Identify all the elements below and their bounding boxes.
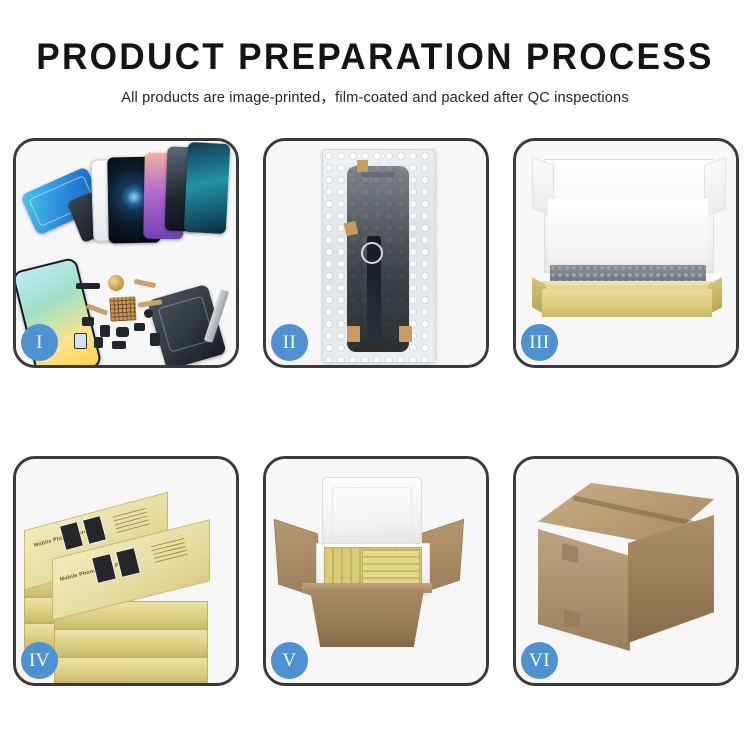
step-badge-4: IV xyxy=(21,642,58,679)
stacked-box xyxy=(54,629,208,657)
bubble-wrap-bag-icon xyxy=(322,149,436,363)
teal-gradient-phone-icon xyxy=(184,142,231,234)
cable-loop-icon xyxy=(361,242,383,264)
white-foam-fill-icon xyxy=(548,199,708,263)
carton-front-icon xyxy=(302,589,432,647)
inner-yellow-boxes-icon xyxy=(362,549,420,585)
step-badge-5: V xyxy=(271,642,308,679)
step-badge-2: II xyxy=(271,324,308,361)
component-part-icon xyxy=(82,317,94,326)
product-preparation-infographic: PRODUCT PREPARATION PROCESS All products… xyxy=(0,0,750,750)
component-part-icon xyxy=(150,333,160,346)
step-badge-6: VI xyxy=(521,642,558,679)
stacked-box xyxy=(54,657,208,683)
step-panel-3[interactable]: III xyxy=(513,138,739,368)
page-subtitle: All products are image-printed，film-coat… xyxy=(0,86,750,107)
component-part-icon xyxy=(116,327,129,337)
gold-coil-part-icon xyxy=(108,275,124,291)
header: PRODUCT PREPARATION PROCESS All products… xyxy=(0,38,750,107)
step-badge-1: I xyxy=(21,324,58,361)
flex-cable-icon xyxy=(134,279,157,288)
battery-part-icon xyxy=(74,333,87,349)
foam-box-lid-icon xyxy=(322,477,422,547)
step-panel-6[interactable]: VI xyxy=(513,456,739,686)
copper-mesh-part-icon xyxy=(109,296,136,321)
process-steps-grid: I II xyxy=(13,138,739,690)
step-panel-2[interactable]: II xyxy=(263,138,489,368)
component-part-icon xyxy=(94,337,103,348)
component-part-icon xyxy=(100,325,110,337)
yellow-box-front-icon xyxy=(542,289,712,317)
component-part-icon xyxy=(144,309,153,318)
step-badge-3: III xyxy=(521,324,558,361)
component-part-icon xyxy=(112,341,126,349)
step-panel-1[interactable]: I xyxy=(13,138,239,368)
step-panel-4[interactable]: Mobile Phone Spare Parts Mobile Phone Sp… xyxy=(13,456,239,686)
tape-piece-icon xyxy=(357,160,368,172)
component-part-icon xyxy=(76,283,100,289)
tape-piece-icon xyxy=(399,326,412,342)
carton-left-face-icon xyxy=(538,529,630,651)
tape-piece-icon xyxy=(347,326,360,342)
tape-piece-icon xyxy=(344,221,358,236)
step-panel-5[interactable]: V xyxy=(263,456,489,686)
page-title: PRODUCT PREPARATION PROCESS xyxy=(19,38,732,77)
component-part-icon xyxy=(134,323,145,331)
